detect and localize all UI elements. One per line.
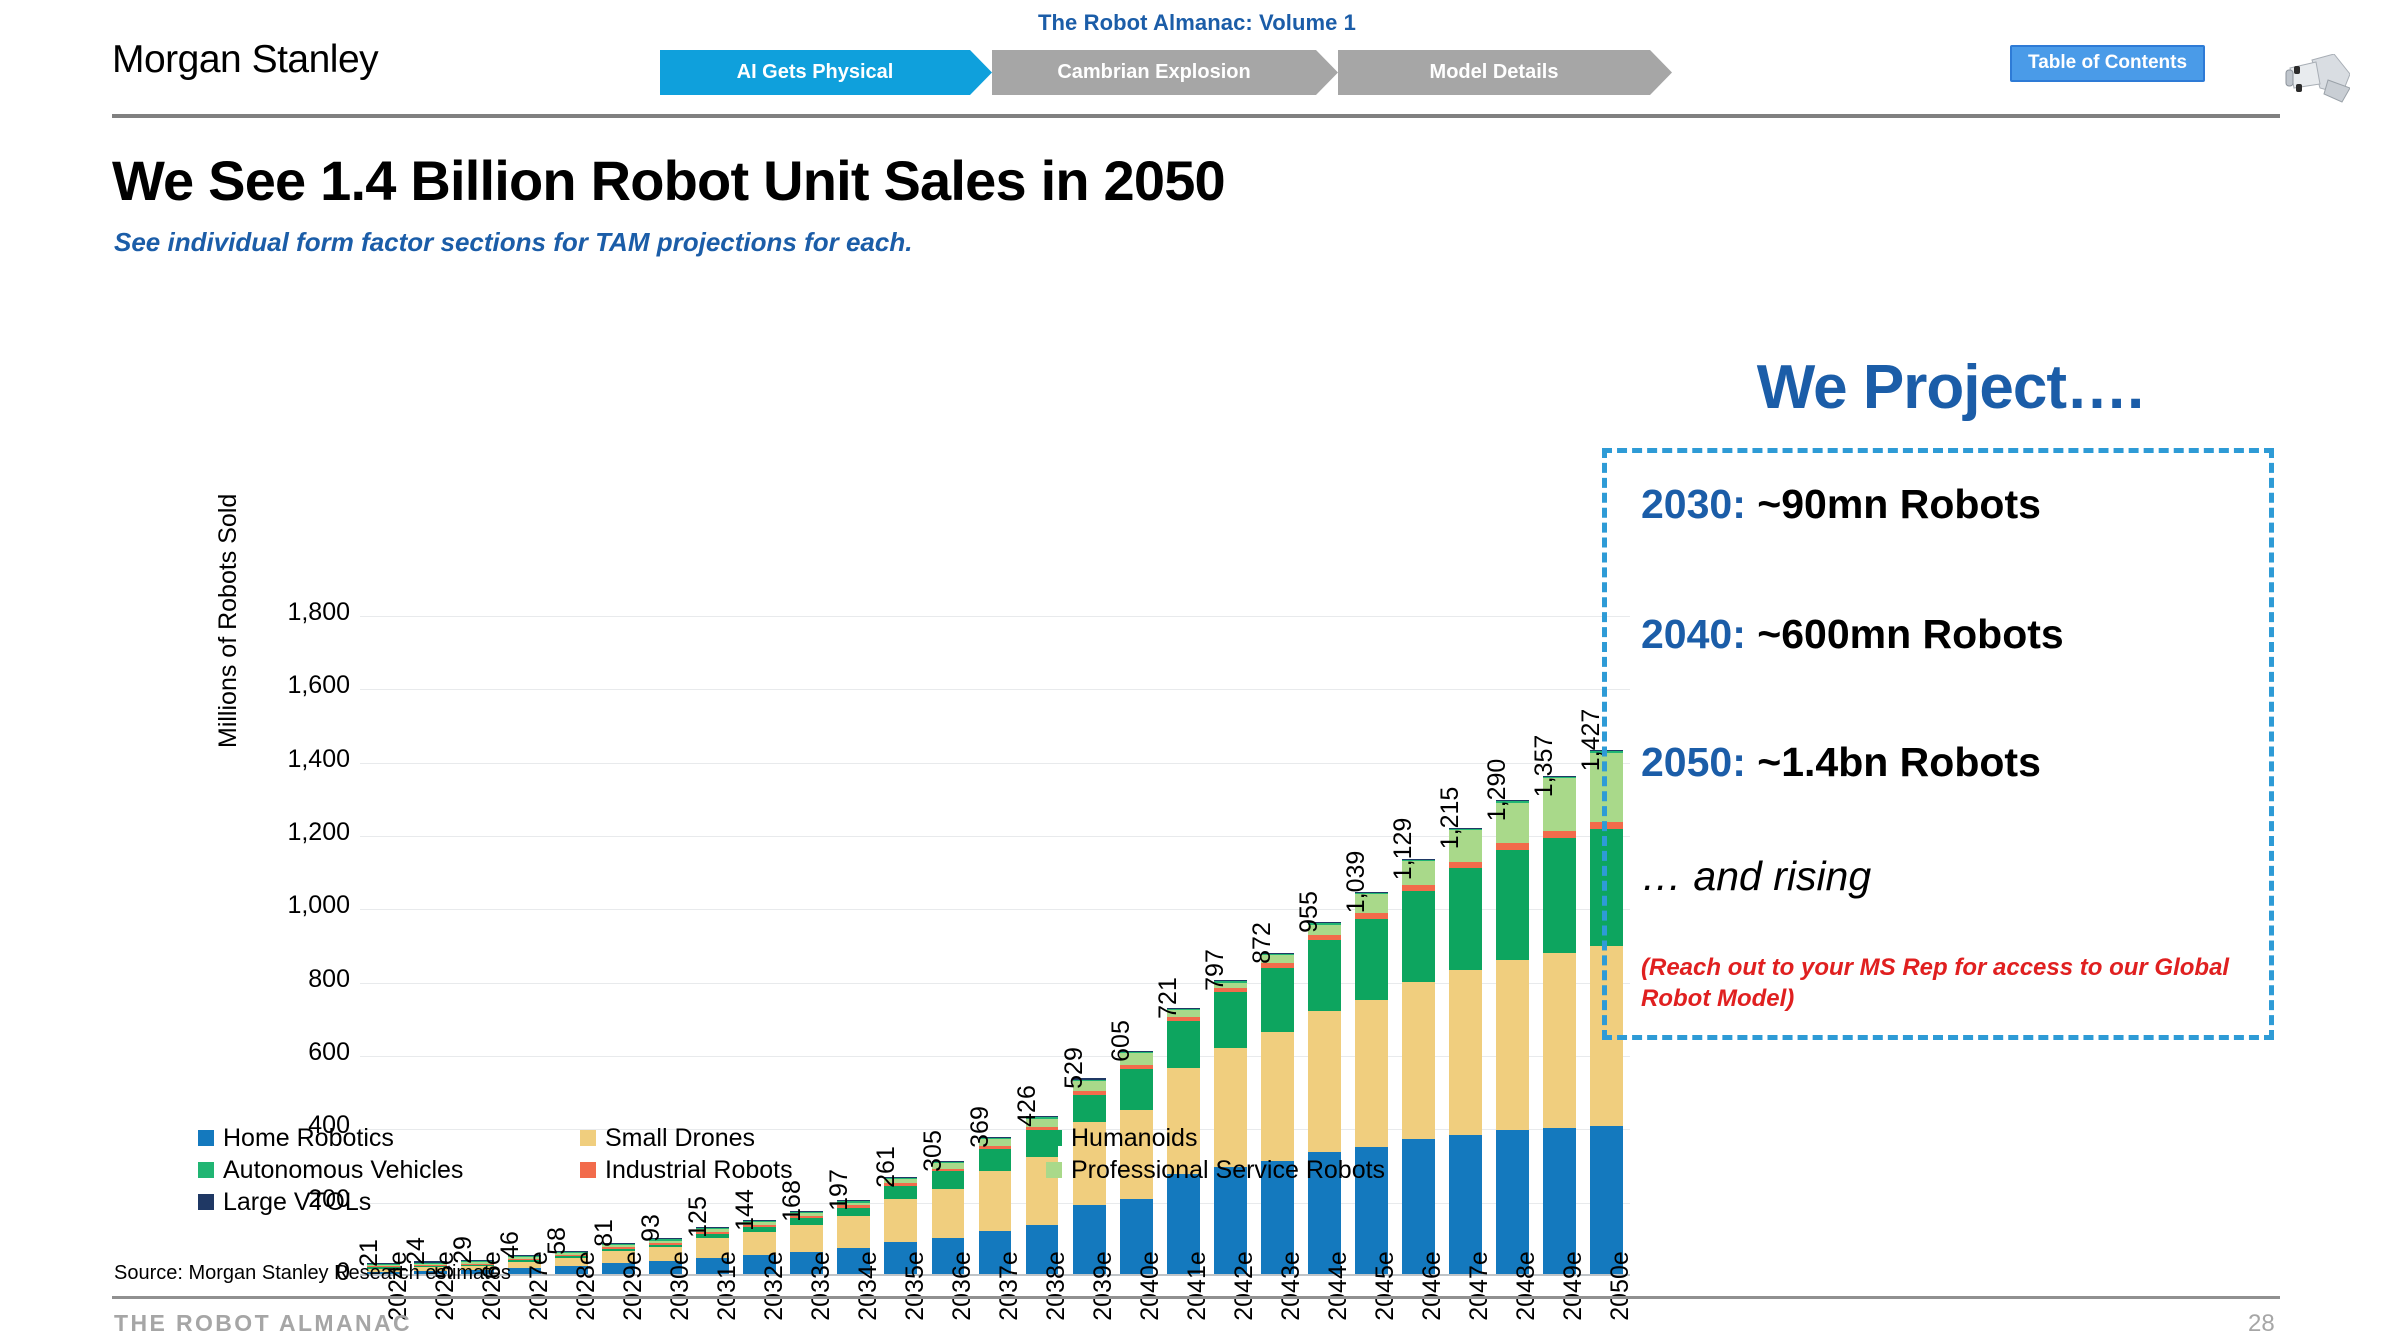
morgan-stanley-logo: Morgan Stanley [112, 38, 378, 82]
chevron-right-icon [1316, 50, 1338, 95]
gridline [360, 689, 1630, 690]
x-axis-tick-label: 2029e [619, 1251, 648, 1321]
projection-value-2050: ~1.4bn Robots [1746, 739, 2041, 785]
bar-segment-small-drones [790, 1225, 823, 1253]
gridline [360, 616, 1630, 617]
x-axis-tick-label: 2030e [666, 1251, 695, 1321]
x-axis-tick-label: 2046e [1418, 1251, 1447, 1321]
gridline [360, 983, 1630, 984]
nav-chevron-ai-gets-physical[interactable]: AI Gets Physical [660, 50, 970, 95]
bar-segment-humanoids [1402, 891, 1435, 982]
bar-column[interactable]: 1,3572049e [1543, 776, 1576, 1274]
y-axis-ticks: 02004006008001,0001,2001,4001,6001,800 [240, 300, 350, 960]
x-axis-tick-label: 2038e [1042, 1251, 1071, 1321]
footer-deck-name: THE ROBOT ALMANAC [114, 1310, 412, 1337]
x-axis-tick-label: 2047e [1465, 1251, 1494, 1321]
projection-year-2030: 2030: [1641, 481, 1746, 527]
chevron-right-icon [970, 50, 992, 95]
x-axis-tick-label: 2048e [1512, 1251, 1541, 1321]
bar-value-label: 721 [1154, 977, 1183, 1019]
nav-chevron-label: Cambrian Explosion [1057, 61, 1250, 84]
x-axis-tick-label: 2044e [1324, 1251, 1353, 1321]
x-axis-tick-label: 2045e [1371, 1251, 1400, 1321]
bar-column[interactable]: 582028e [555, 1251, 588, 1274]
gridline [360, 1056, 1630, 1057]
bar-segment-small-drones [1543, 953, 1576, 1128]
bar-column[interactable]: 812029e [602, 1243, 635, 1274]
bar-value-label: 529 [1060, 1048, 1089, 1090]
legend-item-humanoids[interactable]: Humanoids [1046, 1124, 1526, 1153]
bar-value-label: 1,215 [1436, 786, 1465, 849]
projection-year-2040: 2040: [1641, 611, 1746, 657]
legend-swatch-icon [580, 1162, 596, 1178]
bar-value-label: 955 [1295, 891, 1324, 933]
deck-title: The Robot Almanac: Volume 1 [0, 10, 2394, 36]
table-of-contents-button[interactable]: Table of Contents [2010, 45, 2205, 82]
y-axis-tick-label: 1,200 [240, 820, 350, 845]
bar-segment-small-drones [1402, 982, 1435, 1140]
bar-segment-humanoids [1543, 838, 1576, 952]
chart-legend: Home RoboticsSmall DronesHumanoidsAutono… [198, 1122, 1538, 1218]
robot-unit-sales-chart: Millions of Robots Sold 02004006008001,0… [110, 300, 1590, 1130]
x-axis-tick-label: 2027e [525, 1251, 554, 1321]
gridline [360, 909, 1630, 910]
x-axis-tick-label: 2031e [713, 1251, 742, 1321]
bar-value-label: 872 [1248, 922, 1277, 964]
projection-and-rising: … and rising [1641, 853, 1871, 900]
projection-line-2050: 2050: ~1.4bn Robots [1641, 739, 2041, 786]
legend-item-autonomous-vehicles[interactable]: Autonomous Vehicles [198, 1156, 580, 1185]
bar-segment-industrial-robots [1496, 843, 1529, 850]
bar-column[interactable]: 1442032e [743, 1220, 776, 1274]
projection-line-2040: 2040: ~600mn Robots [1641, 611, 2064, 658]
bar-segment-humanoids [1496, 850, 1529, 960]
legend-label: Industrial Robots [605, 1156, 793, 1185]
bar-value-label: 1,357 [1530, 734, 1559, 797]
bar-segment-humanoids [1261, 968, 1294, 1031]
bar-value-label: 29 [449, 1236, 478, 1264]
nav-chevron-label: AI Gets Physical [737, 61, 894, 84]
legend-item-small-drones[interactable]: Small Drones [580, 1124, 1046, 1153]
x-axis-tick-label: 2042e [1230, 1251, 1259, 1321]
x-axis-tick-label: 2033e [807, 1251, 836, 1321]
bar-segment-humanoids [1073, 1095, 1106, 1122]
gridline [360, 763, 1630, 764]
bar-segment-small-drones [1449, 970, 1482, 1135]
bar-value-label: 58 [543, 1227, 572, 1255]
bar-value-label: 1,039 [1342, 851, 1371, 914]
bar-value-label: 1,290 [1483, 759, 1512, 822]
y-axis-tick-label: 1,600 [240, 673, 350, 698]
legend-row: Autonomous VehiclesIndustrial RobotsProf… [198, 1154, 1538, 1186]
x-axis-tick-label: 2041e [1183, 1251, 1212, 1321]
bar-value-label: 1,129 [1389, 818, 1418, 881]
bar-segment-industrial-robots [1543, 831, 1576, 838]
legend-item-large-vtols[interactable]: Large VTOLs [198, 1188, 580, 1217]
bar-segment-humanoids [1355, 919, 1388, 1000]
x-axis-tick-label: 2049e [1559, 1251, 1588, 1321]
legend-swatch-icon [1046, 1162, 1062, 1178]
x-axis-tick-label: 2035e [901, 1251, 930, 1321]
legend-row: Home RoboticsSmall DronesHumanoids [198, 1122, 1538, 1154]
robot-hand-icon [2272, 54, 2350, 106]
page-title: We See 1.4 Billion Robot Unit Sales in 2… [112, 148, 1225, 213]
bar-segment-humanoids [1308, 940, 1341, 1012]
bar-segment-small-drones [1496, 960, 1529, 1131]
bar-segment-small-drones [837, 1216, 870, 1248]
bar-column[interactable]: 932030e [649, 1238, 682, 1274]
bar-column[interactable]: 1682033e [790, 1211, 823, 1274]
bar-segment-humanoids [1167, 1021, 1200, 1068]
y-axis-tick-label: 1,400 [240, 747, 350, 772]
legend-label: Large VTOLs [223, 1188, 371, 1217]
projection-value-2030: ~90mn Robots [1746, 481, 2041, 527]
bar-value-label: 797 [1201, 949, 1230, 991]
x-axis-tick-label: 2037e [995, 1251, 1024, 1321]
x-axis-tick-label: 2050e [1606, 1251, 1635, 1321]
projection-line-2030: 2030: ~90mn Robots [1641, 481, 2041, 528]
y-axis-tick-label: 1,000 [240, 893, 350, 918]
bar-segment-humanoids [1120, 1069, 1153, 1110]
bar-segment-humanoids [1214, 992, 1247, 1048]
bar-segment-humanoids [1449, 868, 1482, 970]
bar-value-label: 93 [637, 1214, 666, 1242]
y-axis-tick-label: 600 [240, 1040, 350, 1065]
x-axis-tick-label: 2036e [948, 1251, 977, 1321]
legend-label: Autonomous Vehicles [223, 1156, 463, 1185]
bar-column[interactable]: 8722043e [1261, 953, 1294, 1274]
legend-row: Large VTOLs [198, 1186, 1538, 1218]
footer-divider [112, 1296, 2280, 1299]
nav-chevron-model-details[interactable]: Model Details [1338, 50, 1650, 95]
bar-column[interactable]: 9552044e [1308, 922, 1341, 1274]
legend-swatch-icon [198, 1130, 214, 1146]
y-axis-tick-label: 800 [240, 967, 350, 992]
chevron-right-icon [1650, 50, 1672, 95]
x-axis-tick-label: 2032e [760, 1251, 789, 1321]
y-axis-title: Millions of Robots Sold [214, 494, 243, 748]
x-axis-tick-label: 2040e [1136, 1251, 1165, 1321]
legend-item-industrial-robots[interactable]: Industrial Robots [580, 1156, 1046, 1185]
page-subtitle: See individual form factor sections for … [114, 227, 912, 258]
x-axis-tick-label: 2034e [854, 1251, 883, 1321]
x-axis-tick-label: 2039e [1089, 1251, 1118, 1321]
bar-value-label: 81 [590, 1219, 619, 1247]
legend-item-home-robotics[interactable]: Home Robotics [198, 1124, 580, 1153]
legend-swatch-icon [198, 1162, 214, 1178]
projection-box: 2030: ~90mn Robots 2040: ~600mn Robots 2… [1602, 448, 2274, 1040]
projection-value-2040: ~600mn Robots [1746, 611, 2064, 657]
x-axis-tick-label: 2028e [572, 1251, 601, 1321]
legend-item-professional-service-robots[interactable]: Professional Service Robots [1046, 1156, 1526, 1185]
nav-chevron-label: Model Details [1430, 61, 1559, 84]
header-divider [112, 114, 2280, 118]
legend-swatch-icon [580, 1130, 596, 1146]
projection-note: (Reach out to your MS Rep for access to … [1641, 953, 2241, 1014]
legend-swatch-icon [1046, 1130, 1062, 1146]
projection-heading: We Project…. [1600, 352, 2300, 423]
bar-column[interactable]: 462027e [508, 1255, 541, 1274]
bar-column[interactable]: 1252031e [696, 1227, 729, 1274]
bar-value-label: 426 [1013, 1085, 1042, 1127]
slide-header: Morgan Stanley The Robot Almanac: Volume… [0, 0, 2394, 118]
legend-label: Home Robotics [223, 1124, 394, 1153]
bar-value-label: 46 [496, 1231, 525, 1259]
section-nav[interactable]: AI Gets PhysicalCambrian ExplosionModel … [660, 50, 1650, 95]
x-axis-tick-label: 2043e [1277, 1251, 1306, 1321]
legend-swatch-icon [198, 1194, 214, 1210]
nav-chevron-cambrian-explosion[interactable]: Cambrian Explosion [992, 50, 1316, 95]
y-axis-tick-label: 1,800 [240, 600, 350, 625]
projection-year-2050: 2050: [1641, 739, 1746, 785]
source-note: Source: Morgan Stanley Research estimate… [114, 1262, 511, 1285]
legend-label: Humanoids [1071, 1124, 1197, 1153]
bar-value-label: 605 [1107, 1020, 1136, 1062]
legend-label: Small Drones [605, 1124, 755, 1153]
legend-label: Professional Service Robots [1071, 1156, 1385, 1185]
